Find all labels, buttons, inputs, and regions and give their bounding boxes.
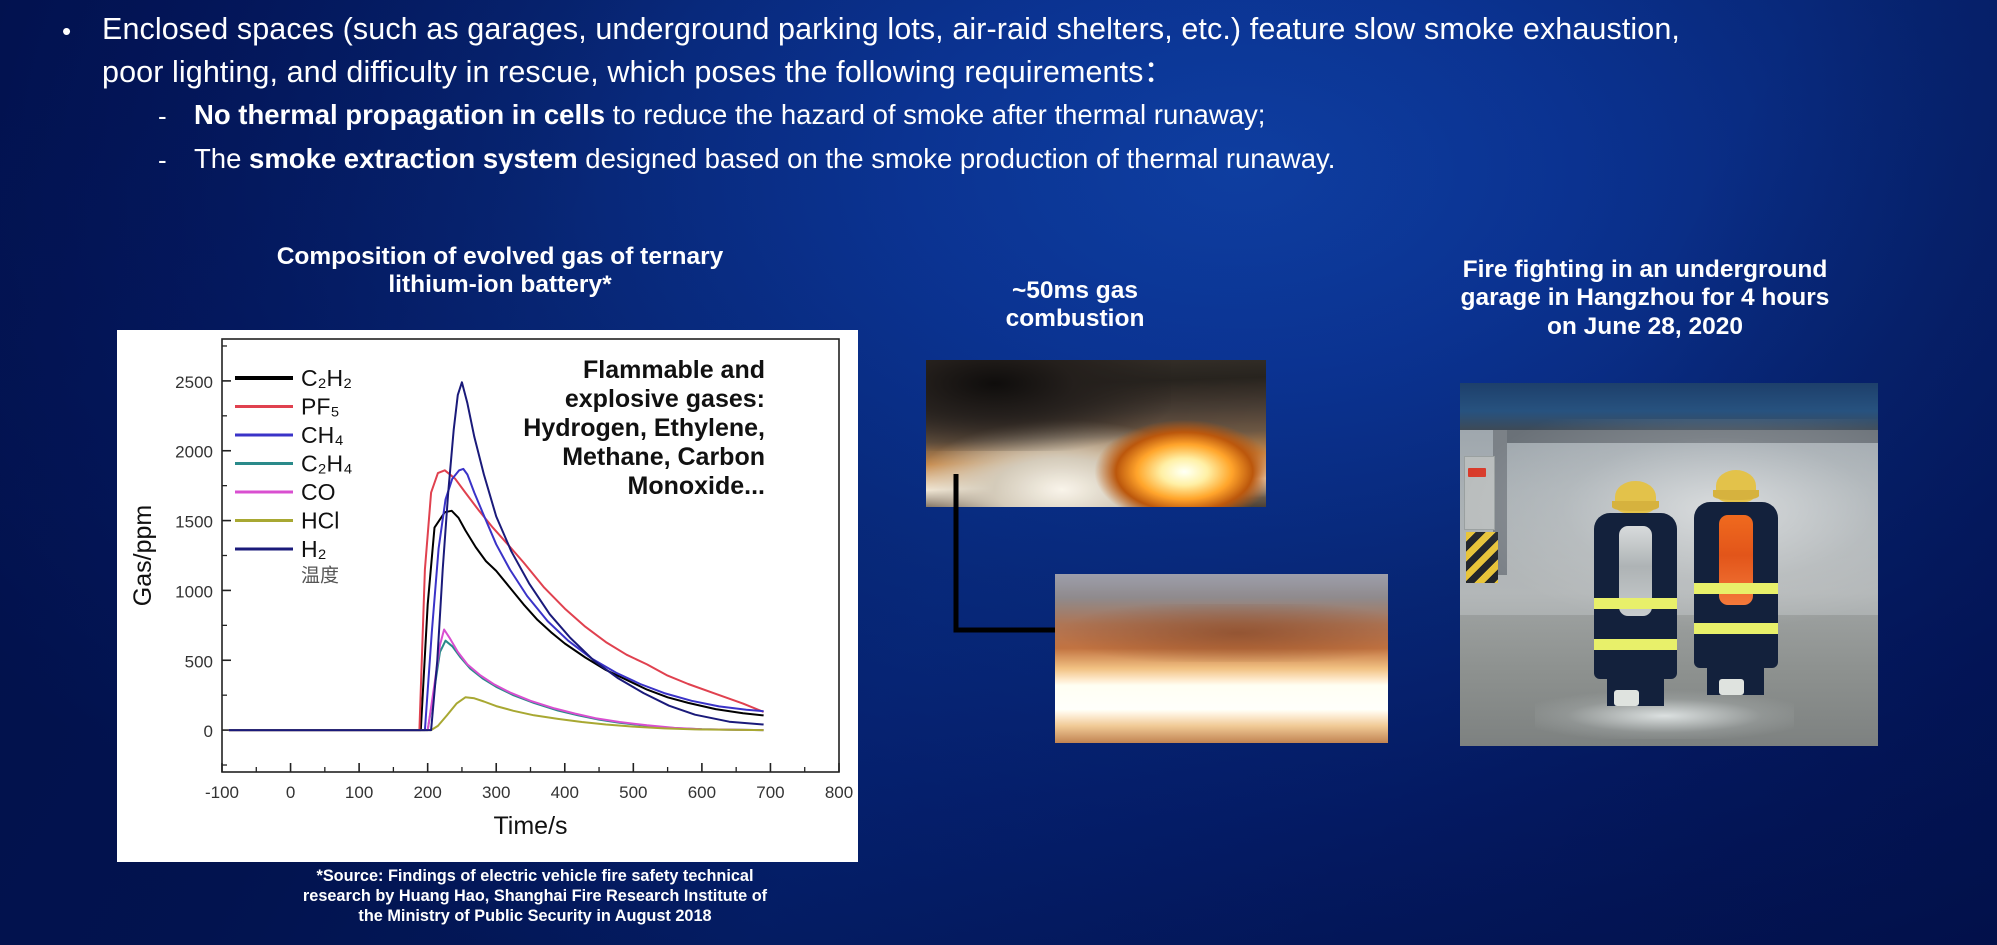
firefighter-left [1594,481,1678,706]
legend-label-C2H2: C₂H₂ [301,365,352,391]
firefighter-right-reflective-stripe-lower [1694,623,1778,634]
firefighter-right-reflective-stripe-upper [1694,583,1778,594]
combustion-title: ~50ms gas combustion [960,277,1190,333]
x-tick-label: 800 [825,783,853,802]
gas-evolution-chart: 05001000150020002500-1000100200300400500… [117,330,858,862]
photo-firefighters-garage [1460,383,1878,746]
y-tick-label: 0 [204,722,213,741]
dash-marker-2-icon: - [158,147,167,173]
firefighting-title-line-1: Fire fighting in an underground [1420,256,1870,284]
sub-bullet-1-bold: No thermal propagation in cells [194,99,605,130]
y-tick-label: 2000 [175,443,213,462]
y-tick-label: 1500 [175,513,213,532]
legend-label-PF5: PF₅ [301,394,340,420]
legend-extra-label: 温度 [301,565,339,587]
chart-annotation-line3: Hydrogen, Ethylene, [523,414,765,442]
y-tick-label: 2500 [175,373,213,392]
firefighter-left-reflective-stripe-upper [1594,598,1678,609]
combustion-title-line-1: ~50ms gas [960,277,1190,305]
firefighter-right [1694,470,1778,695]
x-tick-label: 100 [345,783,373,802]
dash-marker-1-icon: - [158,103,167,129]
chart-title: Composition of evolved gas of ternary li… [180,243,820,299]
photo-gas-combustion-bottom [1055,574,1388,743]
firefighter-left-boot [1614,690,1639,706]
sub-bullet-2: The smoke extraction system designed bas… [194,145,1335,173]
x-tick-label: -100 [205,783,239,802]
chart-annotation-line4: Methane, Carbon [562,443,765,471]
combustion-title-line-2: combustion [960,305,1190,333]
fire-photo-top-shadow [926,360,1171,451]
y-axis-label: Gas/ppm [129,505,157,606]
x-axis-label: Time/s [493,812,567,840]
sub-bullet-2-bold: smoke extraction system [249,143,578,174]
chart-annotation-line1: Flammable and [583,356,765,384]
x-tick-label: 200 [413,783,441,802]
y-tick-label: 1000 [175,582,213,601]
bullet-marker-icon: • [62,18,71,44]
legend-label-CH4: CH₄ [301,422,344,448]
firefighter-left-reflective-stripe-lower [1594,639,1678,650]
chart-title-line-2: lithium-ion battery* [180,271,820,299]
legend-label-CO: CO [301,479,336,505]
sub-bullet-2-pre: The [194,143,249,174]
x-tick-label: 500 [619,783,647,802]
sub-bullet-2-rest: designed based on the smoke production o… [578,143,1336,174]
fire-photo-bottom-streak [1055,604,1388,661]
bullet-line-1: Enclosed spaces (such as garages, underg… [102,14,1680,45]
x-tick-label: 700 [756,783,784,802]
y-tick-label: 500 [185,652,213,671]
legend-label-H2: H₂ [301,536,327,562]
firefighter-left-helmet [1615,481,1655,513]
chart-annotation-line2: explosive gases: [565,385,765,413]
chart-title-line-1: Composition of evolved gas of ternary [180,243,820,271]
firefighting-title-line-2: garage in Hangzhou for 4 hours [1420,284,1870,312]
sub-bullet-1: No thermal propagation in cells to reduc… [194,101,1265,129]
series-CO [229,630,764,731]
source-line-1: *Source: Findings of electric vehicle fi… [255,866,815,886]
source-line-2: research by Huang Hao, Shanghai Fire Res… [255,886,815,906]
chart-svg: 05001000150020002500-1000100200300400500… [117,330,858,862]
chart-source-note: *Source: Findings of electric vehicle fi… [255,866,815,927]
legend-label-C2H4: C₂H₄ [301,451,353,477]
chart-annotation-line5: Monoxide... [628,472,766,500]
firefighter-right-helmet [1716,470,1756,502]
bullet-line-2: poor lighting, and difficulty in rescue,… [102,57,1174,88]
x-tick-label: 600 [688,783,716,802]
firefighting-title-line-3: on June 28, 2020 [1420,313,1870,341]
source-line-3: the Ministry of Public Security in Augus… [255,906,815,926]
firefighting-title: Fire fighting in an underground garage i… [1420,256,1870,341]
x-tick-label: 400 [551,783,579,802]
firefighter-right-boot [1719,679,1744,695]
legend-label-HCl: HCl [301,508,339,534]
x-tick-label: 0 [286,783,295,802]
slide-canvas: • Enclosed spaces (such as garages, unde… [0,0,1997,945]
sub-bullet-1-rest: to reduce the hazard of smoke after ther… [605,99,1265,130]
x-tick-label: 300 [482,783,510,802]
